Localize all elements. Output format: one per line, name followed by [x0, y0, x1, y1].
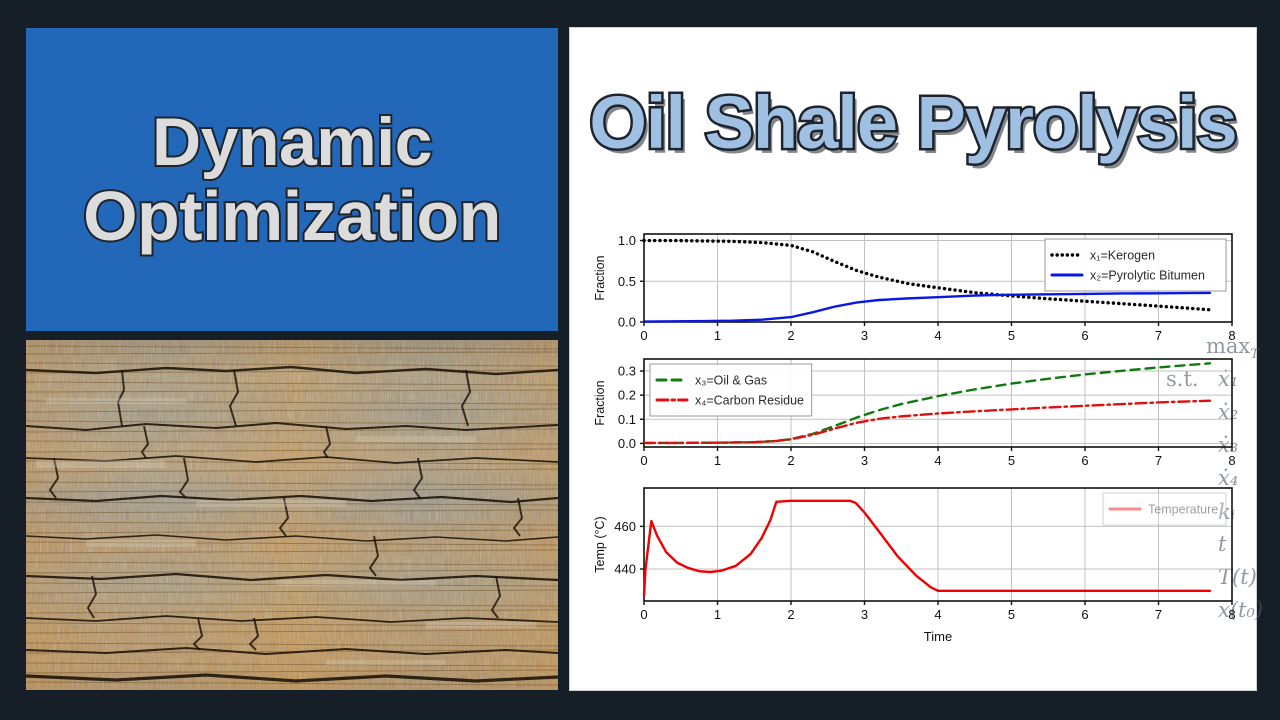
x-tick-label: 2 — [787, 328, 794, 343]
left-title-line-2: Optimization — [83, 182, 501, 251]
chart-svg-species-fractions-top: 0123456780.00.51.0Fractionx₁=Kerogenx₂=P… — [592, 228, 1240, 348]
chart-svg-species-fractions-middle: 0123456780.00.10.20.3Fractionx₃=Oil & Ga… — [592, 353, 1240, 473]
x-tick-label: 7 — [1155, 453, 1162, 468]
x-tick-label: 4 — [934, 453, 941, 468]
x-tick-label: 6 — [1081, 607, 1088, 622]
chart-svg-temperature-profile: 012345678440460Temp (°C)TimeTemperature — [592, 478, 1240, 653]
chart-species-fractions-middle: 0123456780.00.10.20.3Fractionx₃=Oil & Ga… — [592, 353, 1240, 473]
x-tick-label: 8 — [1228, 328, 1235, 343]
y-tick-label: 0.1 — [618, 412, 636, 427]
x-axis-title: Time — [924, 629, 952, 644]
x-tick-label: 4 — [934, 607, 941, 622]
left-title-panel: Dynamic Optimization — [26, 28, 558, 331]
x-tick-label: 3 — [861, 607, 868, 622]
slide-canvas: Dynamic Optimization — [0, 0, 1280, 720]
x-tick-label: 6 — [1081, 453, 1088, 468]
right-content-panel: Oil Shale Pyrolysis maxTx₂(tₙ) s.t.ẋ₁= −… — [570, 28, 1256, 690]
x-tick-label: 0 — [640, 328, 647, 343]
x-tick-label: 2 — [787, 607, 794, 622]
y-tick-label: 0.5 — [618, 274, 636, 289]
y-tick-label: 0.0 — [618, 315, 636, 330]
page-title: Oil Shale Pyrolysis — [570, 80, 1256, 165]
x-axis-ticks: 012345678 — [640, 601, 1235, 622]
y-tick-label: 460 — [614, 519, 636, 534]
x-tick-label: 0 — [640, 453, 647, 468]
y-axis-title: Fraction — [593, 380, 607, 425]
x-tick-label: 8 — [1228, 607, 1235, 622]
y-axis-title: Temp (°C) — [593, 516, 607, 572]
chart-temperature-profile: 012345678440460Temp (°C)TimeTemperature — [592, 478, 1240, 653]
y-axis-title: Fraction — [593, 255, 607, 300]
x-axis-ticks: 012345678 — [640, 322, 1235, 343]
legend-label: x₃=Oil & Gas — [695, 374, 767, 388]
x-tick-label: 7 — [1155, 607, 1162, 622]
x-tick-label: 4 — [934, 328, 941, 343]
x-tick-label: 1 — [714, 453, 721, 468]
x-tick-label: 1 — [714, 328, 721, 343]
y-axis-ticks: 440460 — [614, 519, 644, 577]
chart-legend[interactable]: x₁=Kerogenx₂=Pyrolytic Bitumen — [1045, 239, 1226, 291]
chart-legend[interactable]: Temperature — [1103, 493, 1226, 525]
chart-species-fractions-top: 0123456780.00.51.0Fractionx₁=Kerogenx₂=P… — [592, 228, 1240, 348]
x-axis-ticks: 012345678 — [640, 447, 1235, 468]
legend-label: x₂=Pyrolytic Bitumen — [1090, 269, 1205, 283]
series-line-1 — [644, 293, 1210, 322]
x-tick-label: 5 — [1008, 453, 1015, 468]
x-tick-label: 7 — [1155, 328, 1162, 343]
legend-label: x₄=Carbon Residue — [695, 394, 804, 408]
rock-texture-graphic — [26, 340, 558, 690]
x-tick-label: 5 — [1008, 607, 1015, 622]
x-tick-label: 3 — [861, 453, 868, 468]
y-axis-ticks: 0.00.10.20.3 — [618, 364, 644, 451]
y-tick-label: 0.3 — [618, 364, 636, 379]
chart-legend[interactable]: x₃=Oil & Gasx₄=Carbon Residue — [650, 364, 812, 416]
y-tick-label: 0.0 — [618, 436, 636, 451]
y-axis-ticks: 0.00.51.0 — [618, 233, 644, 329]
x-tick-label: 3 — [861, 328, 868, 343]
x-tick-label: 5 — [1008, 328, 1015, 343]
y-tick-label: 0.2 — [618, 388, 636, 403]
oil-shale-rock-image — [26, 340, 558, 690]
x-tick-label: 6 — [1081, 328, 1088, 343]
left-title-line-1: Dynamic — [152, 109, 432, 176]
x-tick-label: 2 — [787, 453, 794, 468]
legend-label: Temperature — [1148, 503, 1218, 517]
x-tick-label: 8 — [1228, 453, 1235, 468]
y-tick-label: 1.0 — [618, 233, 636, 248]
legend-label: x₁=Kerogen — [1090, 249, 1155, 263]
y-tick-label: 440 — [614, 562, 636, 577]
x-tick-label: 0 — [640, 607, 647, 622]
x-tick-label: 1 — [714, 607, 721, 622]
